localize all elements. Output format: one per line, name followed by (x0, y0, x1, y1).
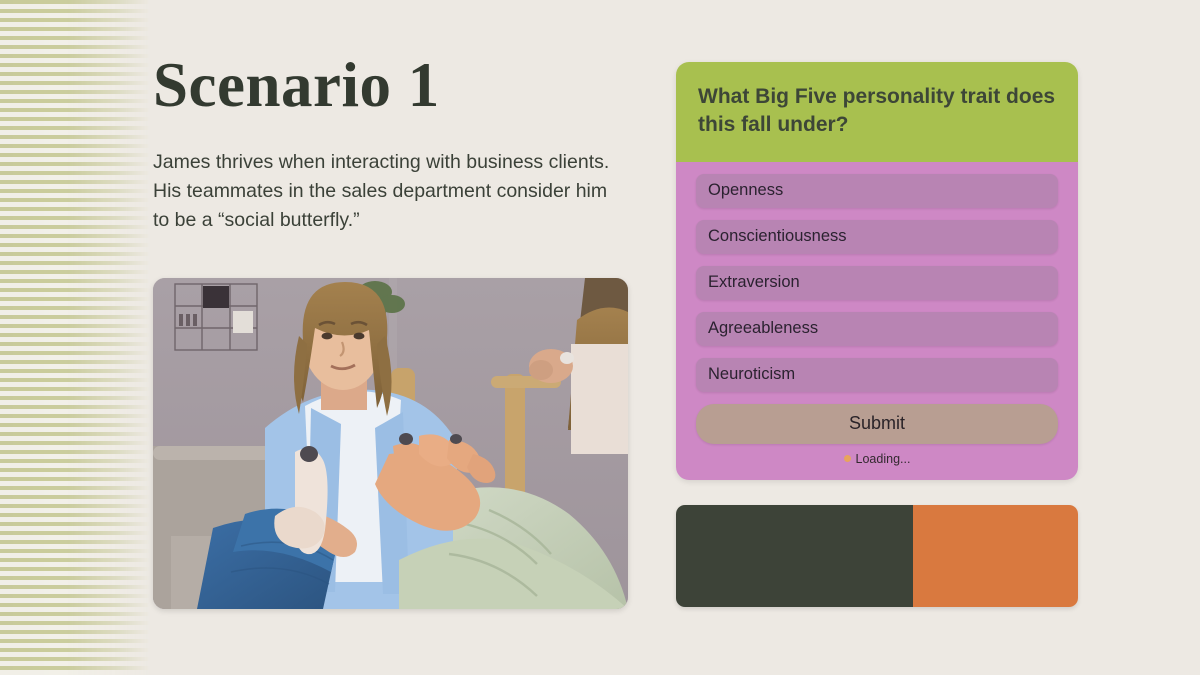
color-swatch-orange (913, 505, 1078, 607)
quiz-question-header: What Big Five personality trait does thi… (676, 62, 1078, 162)
striped-decoration (0, 0, 150, 675)
quiz-option-openness[interactable]: Openness (696, 174, 1058, 208)
loading-label: Loading... (856, 452, 911, 466)
quiz-option-label: Agreeableness (708, 319, 818, 338)
quiz-option-agreeableness[interactable]: Agreeableness (696, 312, 1058, 346)
photo-illustration (153, 278, 628, 609)
quiz-option-label: Extraversion (708, 273, 800, 292)
page-title: Scenario 1 (153, 52, 440, 118)
quiz-option-label: Conscientiousness (708, 227, 847, 246)
color-swatch-panel (676, 505, 1078, 607)
quiz-option-extraversion[interactable]: Extraversion (696, 266, 1058, 300)
quiz-option-label: Openness (708, 181, 783, 200)
scenario-description: James thrives when interacting with busi… (153, 148, 619, 235)
quiz-options-body: Openness Conscientiousness Extraversion … (676, 162, 1078, 480)
submit-button[interactable]: Submit (696, 404, 1058, 444)
loading-status: Loading... (696, 452, 1058, 466)
loading-dot-icon (844, 455, 851, 462)
color-swatch-dark (676, 505, 913, 607)
scenario-photo (153, 278, 628, 609)
scenario-column: Scenario 1 James thrives when interactin… (153, 0, 633, 675)
submit-button-label: Submit (849, 413, 905, 434)
quiz-option-conscientiousness[interactable]: Conscientiousness (696, 220, 1058, 254)
quiz-card: What Big Five personality trait does thi… (676, 62, 1078, 480)
quiz-option-neuroticism[interactable]: Neuroticism (696, 358, 1058, 392)
quiz-option-label: Neuroticism (708, 365, 795, 384)
quiz-question-text: What Big Five personality trait does thi… (698, 83, 1056, 139)
